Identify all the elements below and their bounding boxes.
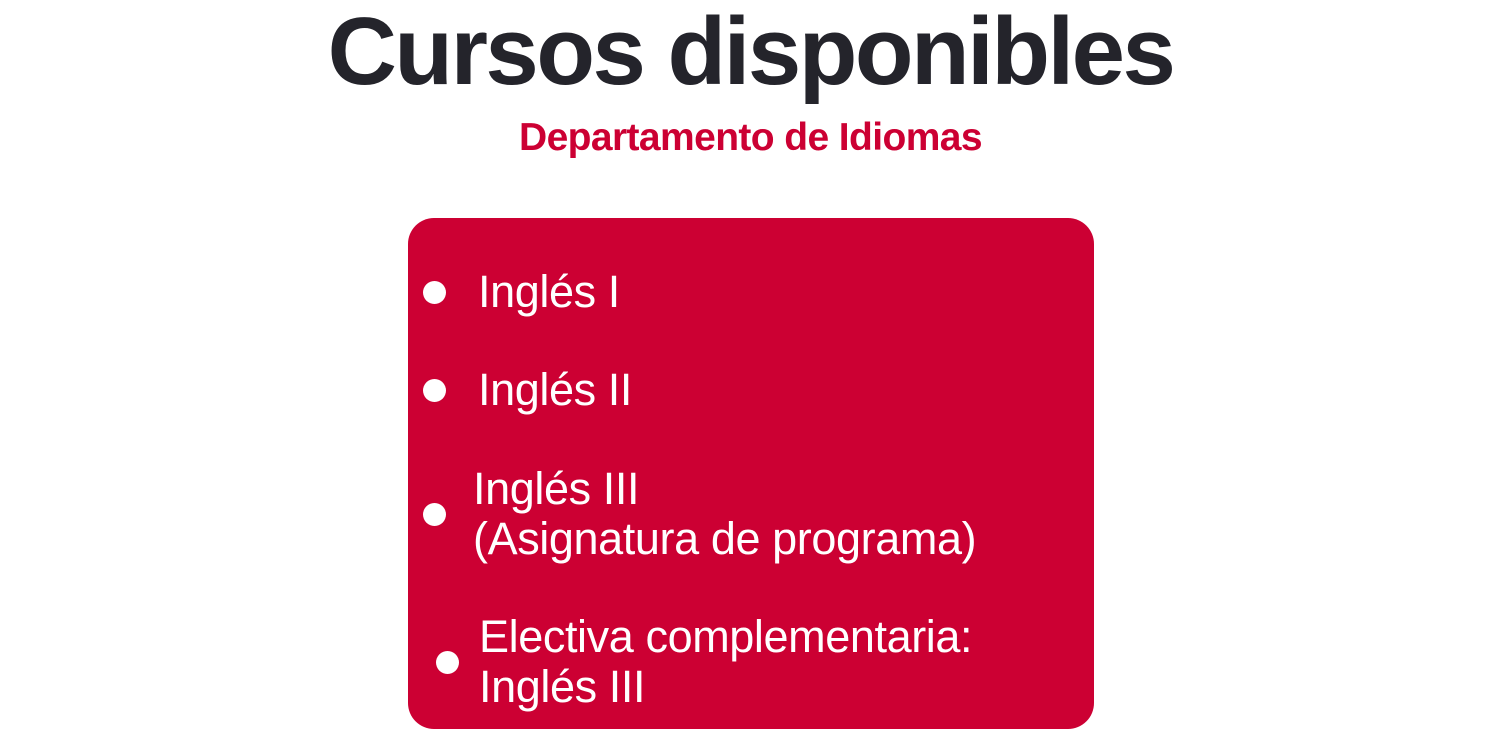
page-title: Cursos disponibles: [0, 0, 1501, 104]
list-item-label: Inglés II: [478, 365, 1094, 415]
bullet-dot-icon: [423, 281, 446, 304]
list-item-label: Inglés I: [478, 267, 1094, 317]
list-item: Inglés II: [408, 346, 1094, 434]
header-block: Cursos disponibles Departamento de Idiom…: [0, 0, 1501, 160]
course-card: Inglés I Inglés II Inglés III (Asignatur…: [408, 218, 1094, 729]
bullet-dot-icon: [436, 651, 459, 674]
list-item-label: Electiva complementaria: Inglés III: [479, 612, 1094, 712]
list-item-label: Inglés III (Asignatura de programa): [473, 464, 1094, 564]
list-item: Inglés III (Asignatura de programa): [408, 444, 1094, 584]
page-subtitle: Departamento de Idiomas: [0, 116, 1501, 160]
bullet-dot-icon: [423, 503, 446, 526]
list-item: Electiva complementaria: Inglés III: [408, 592, 1094, 732]
bullet-dot-icon: [423, 379, 446, 402]
list-item: Inglés I: [408, 248, 1094, 336]
slide-canvas: Cursos disponibles Departamento de Idiom…: [0, 0, 1501, 755]
course-list: Inglés I Inglés II Inglés III (Asignatur…: [408, 218, 1094, 729]
